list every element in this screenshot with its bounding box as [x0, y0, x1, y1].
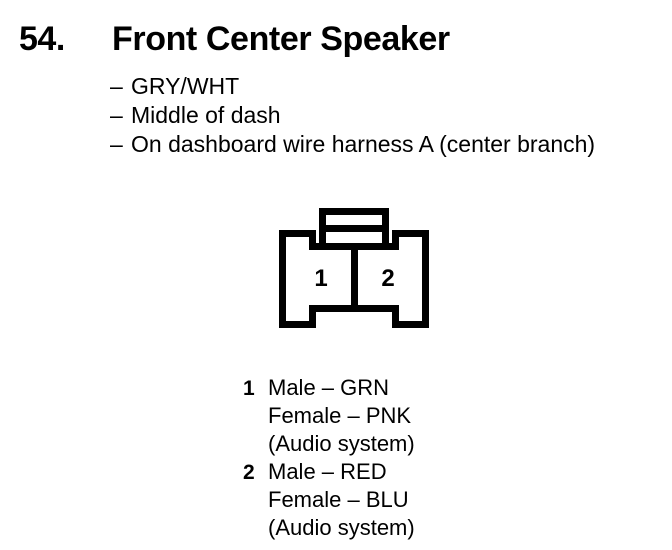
connector-diagram: 1 2	[270, 200, 445, 340]
legend-line-system: (Audio system)	[268, 514, 415, 541]
legend-row: 1 (Audio system)	[243, 430, 643, 458]
pin-number-1: 1	[314, 265, 327, 292]
detail-item: – On dashboard wire harness A (center br…	[110, 130, 595, 159]
legend-row: 2 (Audio system)	[243, 514, 643, 542]
document-page: 54. Front Center Speaker – GRY/WHT – Mid…	[0, 0, 672, 550]
legend-row: 1 Female – PNK	[243, 402, 643, 430]
legend-line-system: (Audio system)	[268, 430, 415, 457]
legend-group-pin-2: 2 Male – RED 2 Female – BLU 2 (Audio sys…	[243, 458, 643, 542]
dash-bullet-icon: –	[110, 130, 131, 159]
pin-number-2: 2	[381, 265, 394, 292]
legend-line-male: Male – GRN	[268, 374, 389, 401]
detail-item: – GRY/WHT	[110, 72, 595, 101]
legend-line-female: Female – BLU	[268, 486, 409, 513]
detail-item-text: Middle of dash	[131, 101, 281, 130]
legend-row: 2 Female – BLU	[243, 486, 643, 514]
detail-item-text: GRY/WHT	[131, 72, 239, 101]
pin-legend: 1 Male – GRN 1 Female – PNK 1 (Audio sys…	[243, 374, 643, 542]
entry-title: Front Center Speaker	[112, 19, 450, 59]
legend-pin-number: 2	[243, 459, 268, 486]
dash-bullet-icon: –	[110, 72, 131, 101]
legend-pin-number: 1	[243, 375, 268, 402]
legend-line-female: Female – PNK	[268, 402, 411, 429]
detail-item: – Middle of dash	[110, 101, 595, 130]
dash-bullet-icon: –	[110, 101, 131, 130]
connector-outline-graphic: 1 2	[270, 200, 445, 340]
detail-item-text: On dashboard wire harness A (center bran…	[131, 130, 595, 159]
legend-group-pin-1: 1 Male – GRN 1 Female – PNK 1 (Audio sys…	[243, 374, 643, 458]
detail-list: – GRY/WHT – Middle of dash – On dashboar…	[110, 72, 595, 159]
entry-number: 54.	[19, 19, 65, 59]
legend-row: 2 Male – RED	[243, 458, 643, 486]
legend-row: 1 Male – GRN	[243, 374, 643, 402]
legend-line-male: Male – RED	[268, 458, 387, 485]
